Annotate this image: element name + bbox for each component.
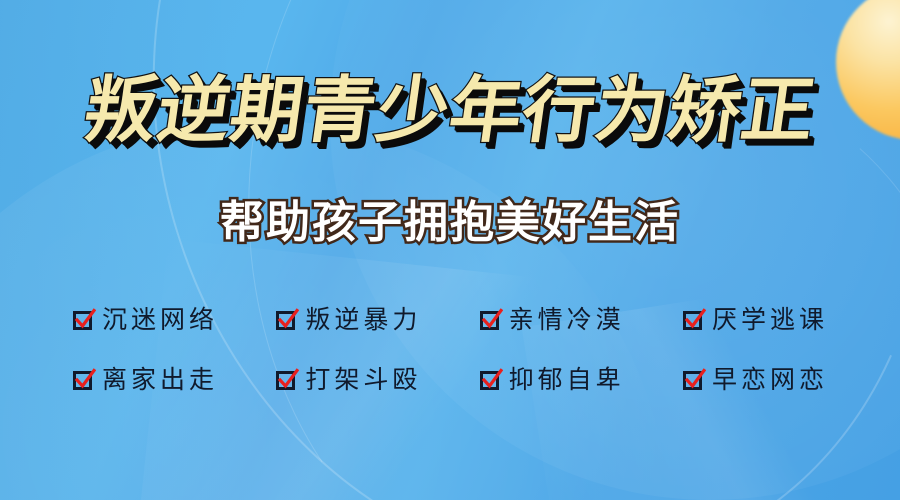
checklist-item-label: 厌学逃课: [712, 307, 828, 332]
checked-box-icon[interactable]: [275, 367, 299, 391]
checklist-item[interactable]: 沉迷网络: [72, 307, 218, 332]
checklist-item-label: 离家出走: [102, 367, 218, 392]
page-subtitle: 帮助孩子拥抱美好生活: [220, 201, 680, 245]
checklist-item-label: 抑郁自卑: [509, 367, 625, 392]
checklist-item-label: 亲情冷漠: [509, 307, 625, 332]
checklist-item-label: 打架斗殴: [305, 367, 421, 392]
checked-box-icon[interactable]: [72, 307, 96, 331]
checklist-item[interactable]: 抑郁自卑: [479, 367, 625, 392]
checked-box-icon[interactable]: [479, 307, 503, 331]
subtitle-container: 帮助孩子拥抱美好生活: [0, 201, 900, 245]
promo-banner: 叛逆期青少年行为矫正 帮助孩子拥抱美好生活 沉迷网络: [0, 0, 900, 500]
checklist: 沉迷网络 叛逆暴力 亲情冷漠: [72, 296, 828, 416]
title-container: 叛逆期青少年行为矫正: [0, 74, 900, 146]
checklist-row: 沉迷网络 叛逆暴力 亲情冷漠: [72, 296, 828, 342]
checklist-item[interactable]: 厌学逃课: [682, 307, 828, 332]
checklist-item-label: 叛逆暴力: [305, 307, 421, 332]
checked-box-icon[interactable]: [479, 367, 503, 391]
checked-box-icon[interactable]: [275, 307, 299, 331]
checklist-item-label: 沉迷网络: [102, 307, 218, 332]
checklist-item[interactable]: 打架斗殴: [275, 367, 421, 392]
checklist-item[interactable]: 叛逆暴力: [275, 307, 421, 332]
checked-box-icon[interactable]: [72, 367, 96, 391]
checklist-item[interactable]: 离家出走: [72, 367, 218, 392]
checklist-item[interactable]: 早恋网恋: [682, 367, 828, 392]
checked-box-icon[interactable]: [682, 367, 706, 391]
checked-box-icon[interactable]: [682, 307, 706, 331]
checklist-item-label: 早恋网恋: [712, 367, 828, 392]
checklist-row: 离家出走 打架斗殴 抑郁自卑: [72, 356, 828, 402]
checklist-item[interactable]: 亲情冷漠: [479, 307, 625, 332]
page-title: 叛逆期青少年行为矫正: [80, 74, 820, 146]
